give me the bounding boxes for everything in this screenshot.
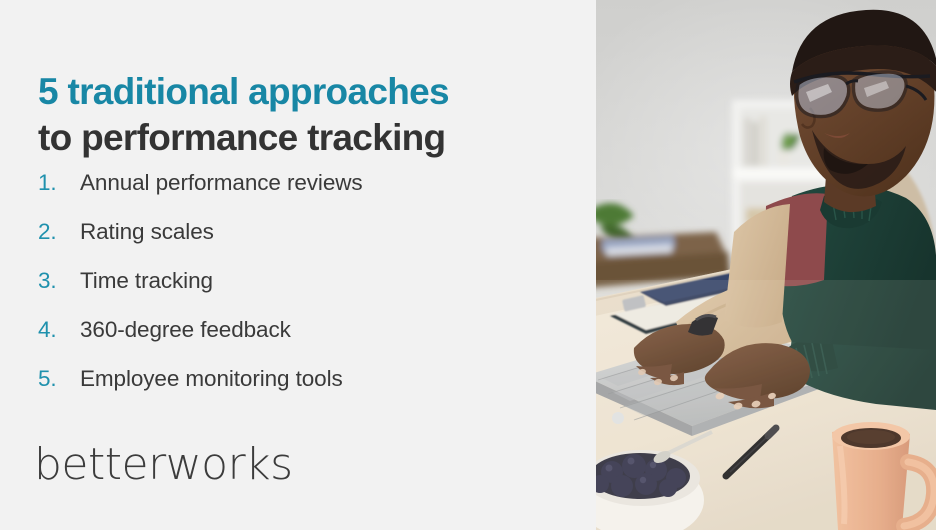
list-item-number: 4.: [38, 317, 80, 343]
list-item-label: 360-degree feedback: [80, 317, 291, 343]
list-item-label: Employee monitoring tools: [80, 366, 343, 392]
list-item-number: 3.: [38, 268, 80, 294]
list-item: 2. Rating scales: [38, 219, 578, 268]
hero-photo: [596, 0, 936, 530]
content-panel: 5 traditional approaches to performance …: [0, 0, 596, 530]
list-item-label: Rating scales: [80, 219, 214, 245]
list-item: 5. Employee monitoring tools: [38, 366, 578, 415]
page-title: 5 traditional approaches to performance …: [38, 69, 578, 161]
betterworks-logo: betterworks: [34, 443, 293, 487]
hero-photo-illustration: [596, 0, 936, 530]
list-item-label: Annual performance reviews: [80, 170, 363, 196]
headline-line-2: to performance tracking: [38, 115, 578, 161]
list-item: 1. Annual performance reviews: [38, 170, 578, 219]
headline-line-1: 5 traditional approaches: [38, 69, 578, 115]
list-item-number: 5.: [38, 366, 80, 392]
list-item-number: 2.: [38, 219, 80, 245]
approaches-list: 1. Annual performance reviews 2. Rating …: [38, 170, 578, 415]
list-item: 4. 360-degree feedback: [38, 317, 578, 366]
list-item-number: 1.: [38, 170, 80, 196]
list-item-label: Time tracking: [80, 268, 213, 294]
list-item: 3. Time tracking: [38, 268, 578, 317]
betterworks-logo-text: betterworks: [34, 439, 293, 490]
slide-canvas: 5 traditional approaches to performance …: [0, 0, 936, 530]
